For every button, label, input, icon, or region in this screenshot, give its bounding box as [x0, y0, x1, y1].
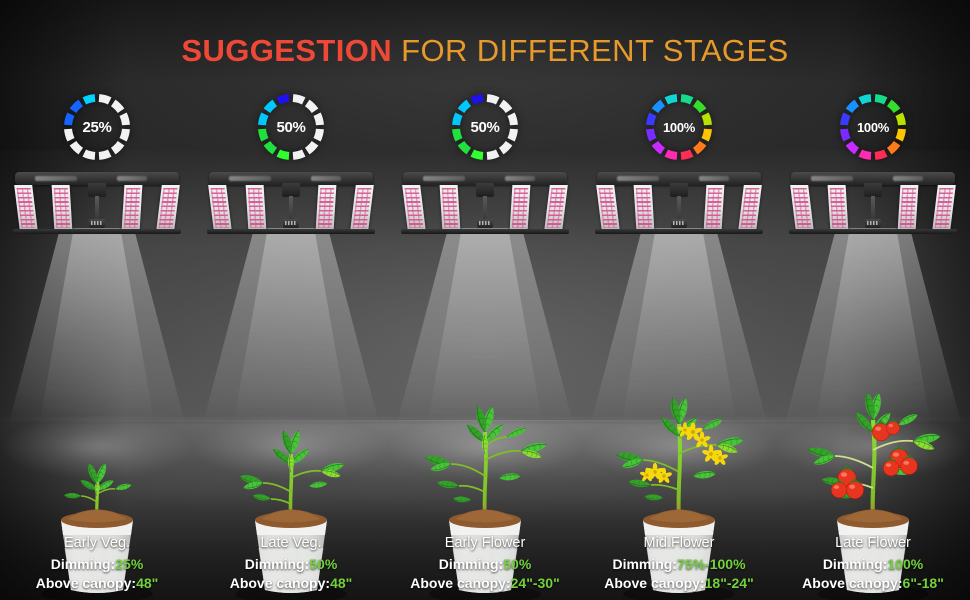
dimming-dial-1[interactable]: 25% — [58, 88, 136, 166]
dimming-label: Dimming: — [612, 556, 677, 572]
canopy-label: Above canopy: — [802, 575, 902, 591]
dial-percent-label: 100% — [640, 88, 718, 166]
fixture-neck — [88, 183, 106, 197]
fixture-neck — [864, 183, 882, 197]
led-bar-3 — [316, 185, 337, 231]
stage-name: Late Flower — [776, 534, 970, 553]
dimming-value: 50% — [503, 556, 531, 572]
led-bar-1 — [14, 185, 38, 231]
canopy-row: Above canopy:18"-24" — [582, 574, 776, 592]
dial-percent-label: 100% — [834, 88, 912, 166]
dimming-value: 25% — [115, 556, 143, 572]
stage-caption: Mid.FlowerDimming:75%-100%Above canopy:1… — [582, 534, 776, 592]
led-bar-2 — [440, 185, 461, 231]
stage-name: Early Flower — [388, 534, 582, 553]
canopy-label: Above canopy: — [410, 575, 510, 591]
led-bar-1 — [596, 185, 620, 231]
fixture-neck — [282, 183, 300, 197]
canopy-value: 6"-18" — [903, 575, 944, 591]
page-title: SUGGESTION FOR DIFFERENT STAGES — [0, 33, 970, 69]
fixture-base — [401, 229, 569, 234]
canopy-value: 24"-30" — [511, 575, 560, 591]
led-bar-2 — [52, 185, 73, 231]
canopy-row: Above canopy:48" — [0, 574, 194, 592]
stage-caption: Late FlowerDimming:100%Above canopy:6"-1… — [776, 534, 970, 592]
dimming-dial-5[interactable]: 100% — [834, 88, 912, 166]
fixture-base — [13, 229, 181, 234]
stage-column-1: 25%Early Veg.Dimming:25%Above canopy:48" — [0, 0, 194, 600]
led-bar-3 — [510, 185, 531, 231]
stage-caption: Early Veg.Dimming:25%Above canopy:48" — [0, 534, 194, 592]
canopy-label: Above canopy: — [36, 575, 136, 591]
brand-mark-left — [35, 176, 77, 181]
led-bar-4 — [156, 185, 180, 231]
fixture-base — [595, 229, 763, 234]
led-bar-4 — [738, 185, 762, 231]
led-bar-4 — [350, 185, 374, 231]
fixture-neck — [476, 183, 494, 197]
brand-mark-left — [811, 176, 853, 181]
brand-mark-left — [423, 176, 465, 181]
led-grow-light[interactable] — [591, 172, 767, 234]
led-grow-light[interactable] — [203, 172, 379, 234]
stage-column-5: 100%Late FlowerDimming:100%Above canopy:… — [776, 0, 970, 600]
dimming-label: Dimming: — [245, 556, 310, 572]
led-grow-light[interactable] — [9, 172, 185, 234]
dimming-row: Dimming:50% — [388, 555, 582, 573]
fixture-dimmer-knob[interactable] — [477, 219, 493, 228]
led-bar-2 — [828, 185, 849, 231]
led-bar-2 — [246, 185, 267, 231]
led-bar-3 — [122, 185, 143, 231]
dial-percent-label: 50% — [252, 88, 330, 166]
stage-name: Early Veg. — [0, 534, 194, 553]
brand-mark-right — [699, 176, 729, 181]
led-bar-4 — [932, 185, 956, 231]
stage-name: Mid.Flower — [582, 534, 776, 553]
canopy-value: 48" — [136, 575, 158, 591]
dimming-value: 100% — [887, 556, 923, 572]
dimming-dial-2[interactable]: 50% — [252, 88, 330, 166]
brand-mark-left — [229, 176, 271, 181]
title-rest: FOR DIFFERENT STAGES — [392, 33, 789, 68]
dimming-value: 50% — [309, 556, 337, 572]
stage-caption: Early FlowerDimming:50%Above canopy:24"-… — [388, 534, 582, 592]
dimming-row: Dimming:50% — [194, 555, 388, 573]
led-bar-1 — [208, 185, 232, 231]
stage-column-3: 50%Early FlowerDimming:50%Above canopy:2… — [388, 0, 582, 600]
brand-mark-right — [117, 176, 147, 181]
canopy-row: Above canopy:48" — [194, 574, 388, 592]
canopy-value: 48" — [330, 575, 352, 591]
led-bar-2 — [634, 185, 655, 231]
led-grow-light[interactable] — [785, 172, 961, 234]
fixture-dimmer-knob[interactable] — [865, 219, 881, 228]
dial-percent-label: 50% — [446, 88, 524, 166]
stage-caption: Late Veg.Dimming:50%Above canopy:48" — [194, 534, 388, 592]
canopy-label: Above canopy: — [230, 575, 330, 591]
canopy-row: Above canopy:24"-30" — [388, 574, 582, 592]
led-bar-1 — [402, 185, 426, 231]
stage-column-2: 50%Late Veg.Dimming:50%Above canopy:48" — [194, 0, 388, 600]
brand-mark-right — [893, 176, 923, 181]
canopy-value: 18"-24" — [705, 575, 754, 591]
dimming-row: Dimming:75%-100% — [582, 555, 776, 573]
fixture-dimmer-knob[interactable] — [671, 219, 687, 228]
fixture-base — [207, 229, 375, 234]
dimming-label: Dimming: — [439, 556, 504, 572]
dimming-row: Dimming:25% — [0, 555, 194, 573]
brand-mark-right — [505, 176, 535, 181]
dimming-dial-3[interactable]: 50% — [446, 88, 524, 166]
fixture-dimmer-knob[interactable] — [89, 219, 105, 228]
dimming-value: 75%-100% — [677, 556, 746, 572]
led-bar-3 — [704, 185, 725, 231]
dimming-dial-4[interactable]: 100% — [640, 88, 718, 166]
brand-mark-left — [617, 176, 659, 181]
stage-name: Late Veg. — [194, 534, 388, 553]
infographic-canvas: SUGGESTION FOR DIFFERENT STAGES 25%Early… — [0, 0, 970, 600]
canopy-row: Above canopy:6"-18" — [776, 574, 970, 592]
title-highlight: SUGGESTION — [181, 33, 392, 68]
led-bar-4 — [544, 185, 568, 231]
led-grow-light[interactable] — [397, 172, 573, 234]
canopy-label: Above canopy: — [604, 575, 704, 591]
dimming-label: Dimming: — [823, 556, 888, 572]
brand-mark-right — [311, 176, 341, 181]
dimming-row: Dimming:100% — [776, 555, 970, 573]
dimming-label: Dimming: — [51, 556, 116, 572]
led-bar-3 — [898, 185, 919, 231]
led-bar-1 — [790, 185, 814, 231]
stage-column-4: 100%Mid.FlowerDimming:75%-100%Above cano… — [582, 0, 776, 600]
dial-percent-label: 25% — [58, 88, 136, 166]
fixture-neck — [670, 183, 688, 197]
fixture-dimmer-knob[interactable] — [283, 219, 299, 228]
fixture-base — [789, 229, 957, 234]
